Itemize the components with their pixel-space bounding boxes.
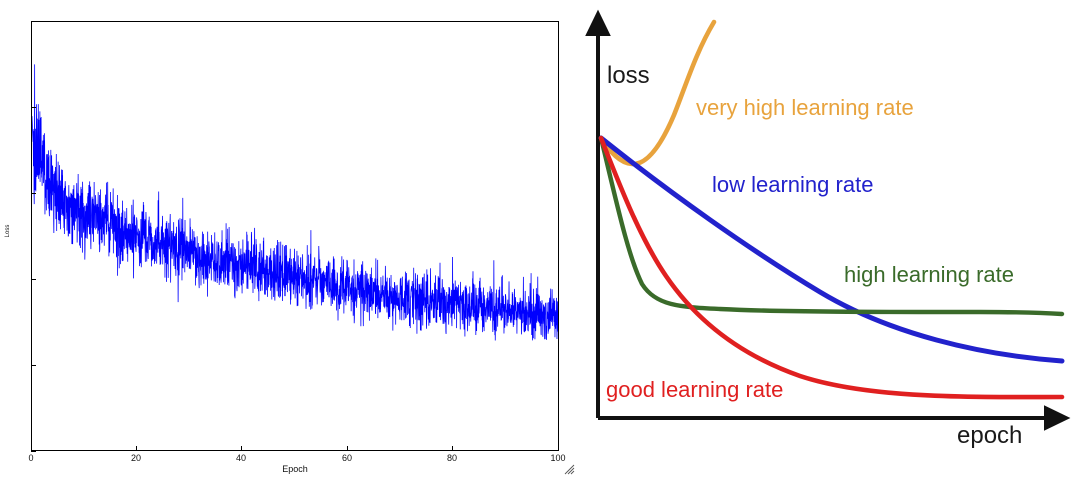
annotation-very-high-learning-rate: very high learning rate: [696, 95, 914, 121]
right-x-axis-label: epoch: [957, 422, 1022, 450]
annotation-good-learning-rate: good learning rate: [606, 377, 783, 403]
ytick-mark-4: [31, 365, 36, 366]
xtick-label-5: 100: [538, 454, 578, 463]
training-loss-plot-area: [31, 21, 559, 451]
training-loss-curve: [32, 22, 558, 450]
xtick-label-0: 0: [11, 454, 51, 463]
annotation-high-learning-rate: high learning rate: [844, 262, 1014, 288]
xtick-label-4: 80: [432, 454, 472, 463]
x-axis-label: Epoch: [0, 464, 590, 474]
right-y-axis-label: loss: [607, 62, 650, 90]
xtick-mark-2: [241, 446, 242, 451]
learning-rate-diagram: [580, 0, 1079, 478]
curve-very-high-learning-rate: [601, 22, 714, 164]
xtick-mark-5: [558, 446, 559, 451]
ytick-mark-5: [31, 451, 36, 452]
learning-rate-schematic-panel: loss epoch very high learning rate low l…: [580, 0, 1079, 478]
xtick-mark-4: [452, 446, 453, 451]
resize-grip-icon[interactable]: [564, 464, 575, 475]
ytick-mark-0: [31, 21, 36, 22]
ytick-mark-2: [31, 193, 36, 194]
xtick-label-3: 60: [327, 454, 367, 463]
xtick-mark-1: [136, 446, 137, 451]
xtick-mark-0: [31, 446, 32, 451]
ytick-mark-3: [31, 279, 36, 280]
xtick-label-1: 20: [116, 454, 156, 463]
figure-root: 2.5 2.0 1.5 1.0 0.5 0.0 0 20 40 60 80 10…: [0, 0, 1079, 478]
y-axis-label: Loss: [5, 211, 11, 251]
training-loss-panel: 2.5 2.0 1.5 1.0 0.5 0.0 0 20 40 60 80 10…: [0, 0, 580, 478]
annotation-low-learning-rate: low learning rate: [712, 172, 873, 198]
xtick-label-2: 40: [221, 454, 261, 463]
ytick-mark-1: [31, 107, 36, 108]
xtick-mark-3: [347, 446, 348, 451]
